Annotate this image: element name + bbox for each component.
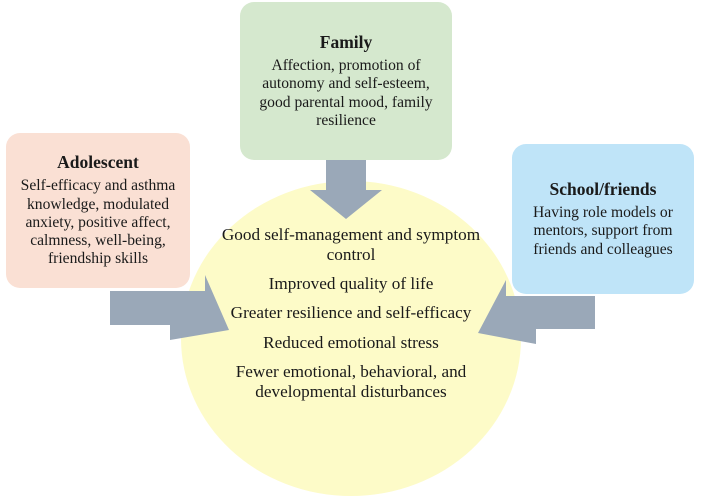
- outcome-line-4: Reduced emotional stress: [196, 333, 506, 353]
- outcomes-text: Good self-management and symptom control…: [196, 225, 506, 402]
- outcome-line-2: Improved quality of life: [196, 274, 506, 294]
- outcome-line-5: Fewer emotional, behavioral, and develop…: [196, 362, 506, 402]
- adolescent-box-title: Adolescent: [14, 152, 182, 173]
- adolescent-box-body: Self-efficacy and asthma knowledge, modu…: [14, 177, 182, 268]
- family-box-title: Family: [248, 32, 444, 53]
- family-box-body: Affection, promotion of autonomy and sel…: [248, 57, 444, 130]
- school-friends-box-title: School/friends: [520, 179, 686, 200]
- school-friends-box: School/friends Having role models or men…: [512, 144, 694, 294]
- outcome-line-1: Good self-management and symptom control: [196, 225, 506, 265]
- adolescent-box: Adolescent Self-efficacy and asthma know…: [6, 133, 190, 288]
- family-box: Family Affection, promotion of autonomy …: [240, 2, 452, 160]
- diagram-canvas: Good self-management and symptom control…: [0, 0, 706, 504]
- school-friends-box-body: Having role models or mentors, support f…: [520, 204, 686, 259]
- outcome-line-3: Greater resilience and self-efficacy: [196, 303, 506, 323]
